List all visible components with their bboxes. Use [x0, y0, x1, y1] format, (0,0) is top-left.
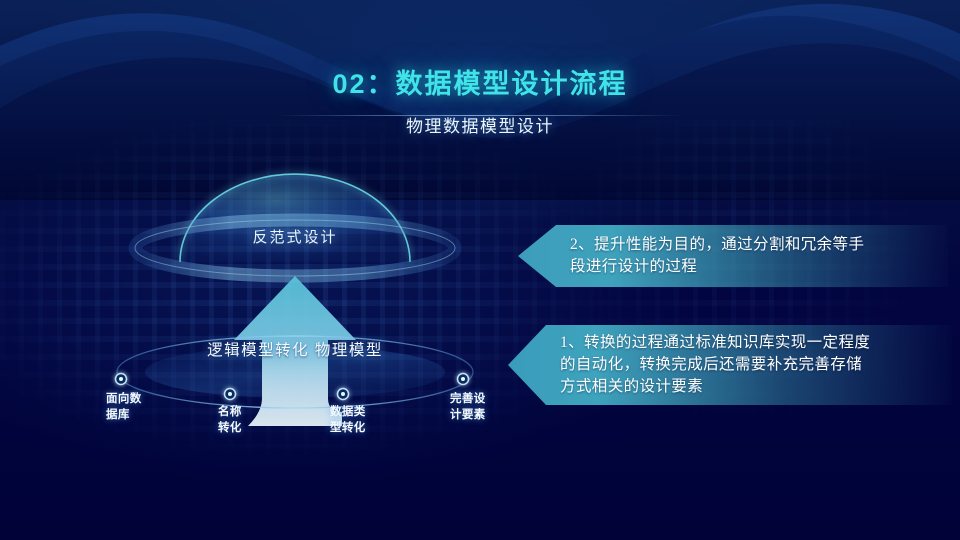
dome-label: 反范式设计 [60, 226, 530, 247]
arrow-label: 逻辑模型转化 物理模型 [60, 340, 530, 361]
node-label-2: 名称 转化 [218, 405, 242, 436]
process-diagram: 反范式设计 逻辑模型转化 物理模型 面向数 据库 名称 转化 数据类 型转化 完… [60, 150, 530, 450]
slide-header: 02：数据模型设计流程 物理数据模型设计 [0, 68, 960, 137]
page-title: 02：数据模型设计流程 [0, 68, 960, 100]
title-divider [278, 115, 682, 116]
page-subtitle: 物理数据模型设计 [0, 112, 960, 137]
callout-banner-2: 2、提升性能为目的，通过分割和冗余等手 段进行设计的过程 [518, 225, 948, 287]
node-label-1: 面向数 据库 [106, 392, 142, 423]
callout-banner-1: 1、转换的过程通过标准知识库实现一定程度 的自动化，转换完成后还需要补充完善存储… [508, 325, 952, 405]
callout-banner-1-text: 1、转换的过程通过标准知识库实现一定程度 的自动化，转换完成后还需要补充完善存储… [508, 332, 876, 398]
slide-canvas: 02：数据模型设计流程 物理数据模型设计 [0, 0, 960, 540]
node-label-3: 数据类 型转化 [330, 405, 366, 436]
node-label-4: 完善设 计要素 [450, 392, 486, 423]
callout-banner-2-text: 2、提升性能为目的，通过分割和冗余等手 段进行设计的过程 [518, 234, 870, 278]
